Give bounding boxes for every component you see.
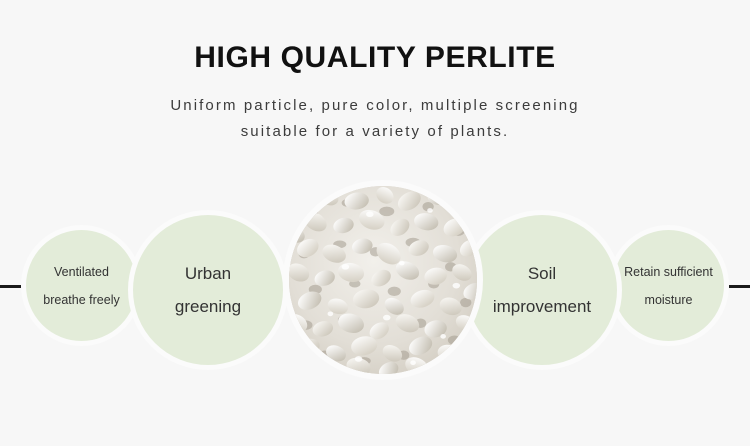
feature-circle-retain-moisture[interactable]: Retain sufficient moisture: [608, 225, 729, 346]
feature-circle-soil-improvement[interactable]: Soil improvement: [462, 210, 622, 370]
feature-circle-ventilated[interactable]: Ventilated breathe freely: [21, 225, 142, 346]
feature-circle-row: Ventilated breathe freely Urban greening…: [0, 0, 750, 446]
feature-label-line: Retain sufficient: [624, 258, 713, 286]
feature-label-line: moisture: [624, 286, 713, 314]
perlite-granules-photo: [283, 180, 483, 380]
feature-circle-urban-greening[interactable]: Urban greening: [128, 210, 288, 370]
feature-label-ventilated: Ventilated breathe freely: [37, 258, 125, 314]
feature-label-line: breathe freely: [43, 286, 119, 314]
feature-label-soil-improvement: Soil improvement: [487, 257, 597, 323]
feature-label-line: Soil: [493, 257, 591, 290]
feature-label-line: improvement: [493, 290, 591, 323]
feature-label-urban-greening: Urban greening: [169, 257, 247, 323]
perlite-product-banner: HIGH QUALITY PERLITE Uniform particle, p…: [0, 0, 750, 446]
feature-label-line: Urban: [175, 257, 241, 290]
feature-label-line: greening: [175, 290, 241, 323]
perlite-granules-photo-graphic: [289, 186, 477, 374]
feature-label-line: Ventilated: [43, 258, 119, 286]
feature-label-retain-moisture: Retain sufficient moisture: [618, 258, 719, 314]
